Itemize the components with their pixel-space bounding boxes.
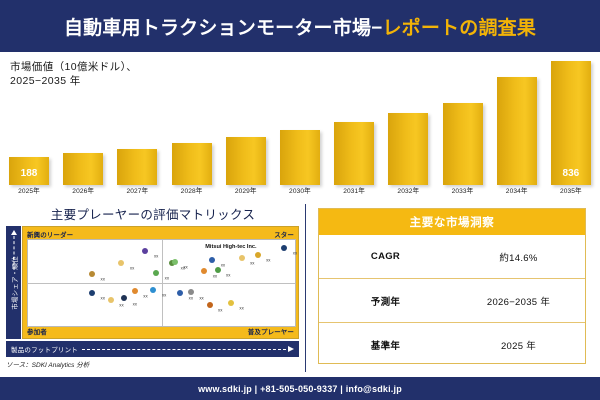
- market-value-chart: 市場価値（10億米ドル）、 2025−2035 年 188836 2025年20…: [0, 52, 600, 200]
- insights-row-label: 基準年: [319, 338, 452, 352]
- bar: [443, 103, 483, 185]
- matrix-data-point-label: xx: [239, 305, 243, 310]
- x-axis-dashed-line: [82, 349, 286, 350]
- matrix-data-point-label: xx: [293, 250, 297, 255]
- bar: [63, 153, 103, 185]
- matrix-data-point: [150, 287, 156, 293]
- page-title-accent: レポートの調査果: [382, 18, 536, 39]
- matrix-data-point: [177, 290, 183, 296]
- chart-plot-area: 188836: [8, 52, 592, 185]
- matrix-scatter-plot: xxxxxxxxxxxxxxxxxxxxxxxxxxxxxxxxxxxxxxxx…: [27, 239, 296, 327]
- quadrant-label-stars: スター: [274, 229, 294, 239]
- insights-row: CAGR約14.6%: [319, 235, 585, 278]
- quadrant-label-participants: 参加者: [27, 326, 47, 336]
- matrix-data-point-label: xx: [130, 266, 134, 271]
- matrix-data-point-label: xx: [189, 296, 193, 301]
- matrix-frame: 新興のリーダー スター 参加者 普及プレーヤー xxxxxxxxxxxxxxxx…: [22, 226, 299, 339]
- matrix-data-point-label: xx: [101, 276, 105, 281]
- x-axis-tick-label: 2025年: [8, 185, 50, 200]
- lower-section: 主要プレーヤーの評価マトリックス 市場シェア・順位 新興のリーダー スター 参加…: [0, 200, 600, 377]
- matrix-data-point: [215, 267, 221, 273]
- source-note: ソース：SDKI Analytics 分析: [6, 359, 89, 369]
- matrix-data-point: [153, 270, 159, 276]
- x-axis-tick-label: 2028年: [171, 185, 213, 200]
- insights-header: 主要な市場洞察: [319, 209, 585, 235]
- matrix-data-point: [201, 268, 207, 274]
- bar: [280, 130, 320, 185]
- insights-row: 予測年2026−2035 年: [319, 278, 585, 322]
- x-axis-tick-label: 2026年: [62, 185, 104, 200]
- bar-slot: [225, 52, 267, 185]
- bar-slot: [496, 52, 538, 185]
- insights-row: 基準年2025 年: [319, 322, 585, 366]
- insights-title: 主要な市場洞察: [410, 214, 495, 230]
- quadrant-label-emerging-leaders: 新興のリーダー: [27, 229, 73, 239]
- bar-slot: 836: [550, 52, 592, 185]
- matrix-data-point: [281, 245, 287, 251]
- bar-slot: [279, 52, 321, 185]
- evaluation-matrix-panel: 主要プレーヤーの評価マトリックス 市場シェア・順位 新興のリーダー スター 参加…: [4, 202, 302, 374]
- arrow-right-icon: [288, 346, 294, 352]
- key-market-insights-panel: 主要な市場洞察 CAGR約14.6%予測年2026−2035 年基準年2025 …: [318, 208, 586, 364]
- bar: [334, 122, 374, 185]
- matrix-data-point: [142, 248, 148, 254]
- matrix-data-point-label: xx: [143, 293, 147, 298]
- matrix-data-point-label: xx: [183, 264, 187, 269]
- x-axis-tick-label: 2034年: [496, 185, 538, 200]
- matrix-data-point-label: xx: [218, 307, 222, 312]
- bar-slot: [333, 52, 375, 185]
- bar: [117, 149, 157, 185]
- arrow-up-icon: [11, 230, 17, 235]
- matrix-data-point-label: xx: [133, 301, 137, 306]
- matrix-x-axis: 製品のフットプリント: [6, 341, 299, 357]
- bar-slot: [62, 52, 104, 185]
- x-axis-tick-label: 2029年: [225, 185, 267, 200]
- matrix-data-point: [172, 259, 178, 265]
- bar: [172, 143, 212, 185]
- page-title-main: 自動車用トラクションモーター市場−: [64, 18, 383, 39]
- bar-slot: [116, 52, 158, 185]
- matrix-data-point: [255, 252, 261, 258]
- matrix-data-point: [132, 288, 138, 294]
- insights-row-value: 2026−2035 年: [452, 294, 585, 308]
- matrix-data-point: [209, 257, 215, 263]
- bar: 836: [551, 61, 591, 185]
- matrix-x-axis-label: 製品のフットプリント: [11, 344, 78, 354]
- insights-row-value: 約14.6%: [452, 250, 585, 264]
- bar: [388, 113, 428, 185]
- x-axis-tick-label: 2031年: [333, 185, 375, 200]
- x-axis-tick-label: 2033年: [442, 185, 484, 200]
- x-axis-tick-label: 2027年: [116, 185, 158, 200]
- matrix-data-point-label: xx: [162, 293, 166, 298]
- x-axis-tick-label: 2032年: [387, 185, 429, 200]
- bar-value-label: 188: [9, 168, 49, 179]
- matrix-highlight-company-label: Mitsui High-tec Inc.: [205, 244, 256, 250]
- bar-slot: [442, 52, 484, 185]
- matrix-data-point-label: xx: [213, 274, 217, 279]
- bar-slot: [387, 52, 429, 185]
- matrix-data-point-label: xx: [266, 257, 270, 262]
- matrix-data-point-label: xx: [119, 303, 123, 308]
- insights-row-label: CAGR: [319, 251, 452, 262]
- x-axis-tick-label: 2030年: [279, 185, 321, 200]
- matrix-data-point-label: xx: [165, 275, 169, 280]
- matrix-data-point: [207, 302, 213, 308]
- infographic-root: 自動車用トラクションモーター市場−レポートの調査果 市場価値（10億米ドル）、 …: [0, 0, 600, 400]
- bar-slot: [171, 52, 213, 185]
- footer-bar: www.sdki.jp | +81-505-050-9337 | info@sd…: [0, 377, 600, 400]
- insights-table: CAGR約14.6%予測年2026−2035 年基準年2025 年: [319, 235, 585, 366]
- bar-value-label: 836: [551, 168, 591, 179]
- matrix-data-point: [89, 290, 95, 296]
- matrix-data-point: [118, 260, 124, 266]
- matrix-y-axis: 市場シェア・順位: [6, 226, 21, 339]
- bar-series: 188836: [8, 52, 592, 185]
- x-axis-tick-label: 2035年: [550, 185, 592, 200]
- matrix-data-point-label: xx: [226, 273, 230, 278]
- footer-contact-text: www.sdki.jp | +81-505-050-9337 | info@sd…: [198, 384, 402, 394]
- matrix-y-axis-label: 市場シェア・順位: [9, 256, 19, 310]
- matrix-data-point: [121, 295, 127, 301]
- bar-slot: 188: [8, 52, 50, 185]
- matrix-data-point: [239, 255, 245, 261]
- matrix-data-point: [108, 297, 114, 303]
- matrix-horizontal-divider: [28, 283, 295, 284]
- matrix-data-point-label: xx: [250, 261, 254, 266]
- matrix-data-point: [89, 271, 95, 277]
- matrix-data-point: [228, 300, 234, 306]
- bar: [497, 77, 537, 185]
- insights-row-label: 予測年: [319, 294, 452, 308]
- insights-row-value: 2025 年: [452, 338, 585, 352]
- page-title: 自動車用トラクションモーター市場−レポートの調査果: [64, 13, 536, 40]
- bar: [226, 137, 266, 185]
- matrix-data-point-label: xx: [154, 254, 158, 259]
- chart-x-axis: 2025年2026年2027年2028年2029年2030年2031年2032年…: [8, 185, 592, 200]
- matrix-data-point-label: xx: [101, 296, 105, 301]
- header-banner: 自動車用トラクションモーター市場−レポートの調査果: [0, 0, 600, 52]
- quadrant-label-pervasive-players: 普及プレーヤー: [248, 326, 294, 336]
- matrix-title: 主要プレーヤーの評価マトリックス: [4, 202, 302, 223]
- matrix-data-point: [188, 289, 194, 295]
- bar: 188: [9, 157, 49, 185]
- panel-divider: [305, 204, 306, 372]
- matrix-data-point-label: xx: [199, 295, 203, 300]
- matrix-data-point-label: xx: [221, 262, 225, 267]
